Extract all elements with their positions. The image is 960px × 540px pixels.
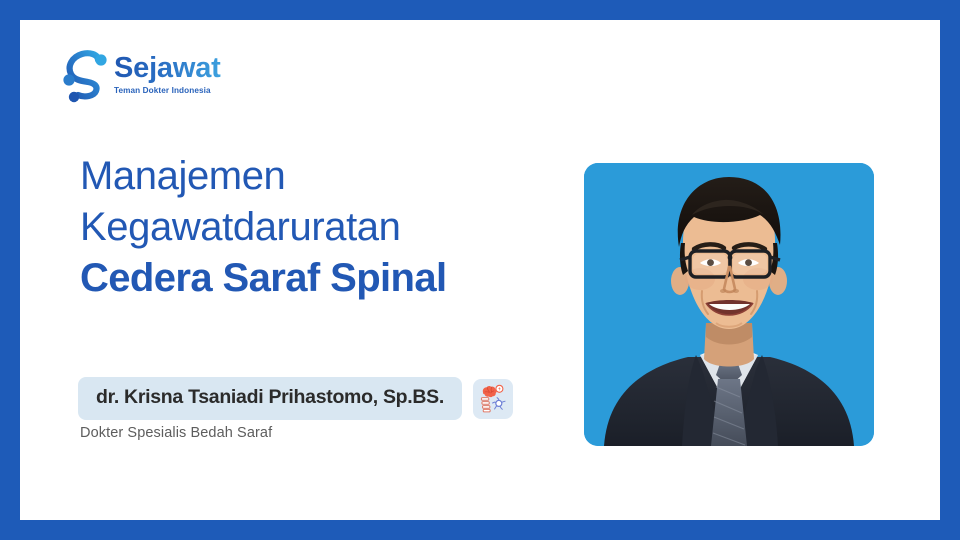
title-line-2: Kegawatdaruratan [80, 202, 550, 253]
logo-tagline: Teman Dokter Indonesia [114, 86, 221, 95]
sejawat-s-node-logo-icon [58, 50, 110, 106]
logo-wordmark: Sejawat [114, 52, 221, 84]
speaker-name-badge: dr. Krisna Tsaniadi Prihastomo, Sp.BS. [78, 377, 462, 420]
speaker-portrait [584, 163, 874, 446]
logo-text: Sejawat Teman Dokter Indonesia [114, 52, 221, 95]
brain-spine-neuron-icon [473, 379, 513, 419]
brand-logo: Sejawat Teman Dokter Indonesia [58, 42, 278, 112]
speaker-row: dr. Krisna Tsaniadi Prihastomo, Sp.BS. [78, 377, 513, 420]
presentation-slide: Sejawat Teman Dokter Indonesia Manajemen… [0, 0, 960, 540]
page-title: Manajemen Kegawatdaruratan Cedera Saraf … [80, 151, 550, 304]
title-line-3: Cedera Saraf Spinal [80, 253, 550, 304]
title-line-1: Manajemen [80, 151, 550, 202]
speaker-subtitle: Dokter Spesialis Bedah Saraf [80, 425, 272, 441]
slide-canvas: Sejawat Teman Dokter Indonesia Manajemen… [20, 20, 940, 520]
